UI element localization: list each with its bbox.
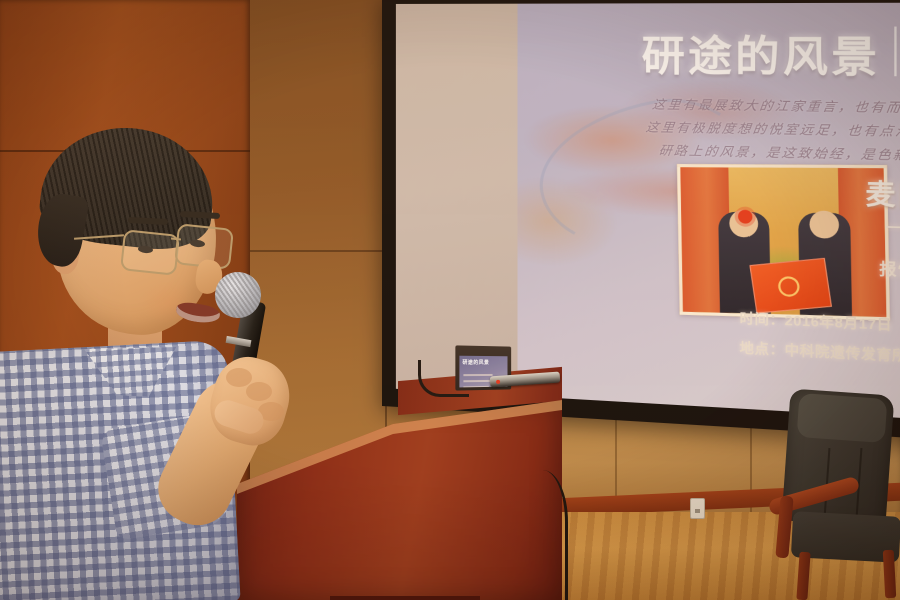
laptop-slide-line [463,386,488,388]
photo-ribbon-flower [738,210,753,224]
chair-leg [796,552,810,600]
photo-certificate [749,258,832,314]
mouth [175,301,221,326]
slide-headline: 麦田的守望者 [866,173,900,219]
knuckle [226,368,252,387]
floor-cable [505,470,568,600]
lectern-base [330,596,480,600]
laptop-slide-line [463,374,492,376]
eyeglasses-lens [120,229,180,276]
slide-award-photo [677,164,890,320]
slide-time-line: 时间：2016年8月17日 星期三 上午9：30 [740,307,900,341]
slide-place-line: 地点：中科院遗传发育所1号楼215-216报告厅 [740,337,900,373]
chair-headrest [797,393,888,443]
laptop-slide-title: 研途的风景 [462,359,489,366]
slide-title: 研途的风景 [642,22,881,85]
black-leather-armchair [772,392,900,600]
wall-power-outlet [690,498,705,519]
lecture-hall-photo: 研途的风景 系列讲座 这里有最展致大的江家重言，也有而后新报的消而人生， 这里有… [0,0,900,600]
title-divider [894,27,896,77]
photo-person-head [809,211,839,239]
speaker-person [0,120,320,600]
knuckle [246,382,272,401]
remote-led-icon [496,380,500,384]
projected-slide: 研途的风景 系列讲座 这里有最展致大的江家重言，也有而后新报的消而人生， 这里有… [518,3,900,421]
